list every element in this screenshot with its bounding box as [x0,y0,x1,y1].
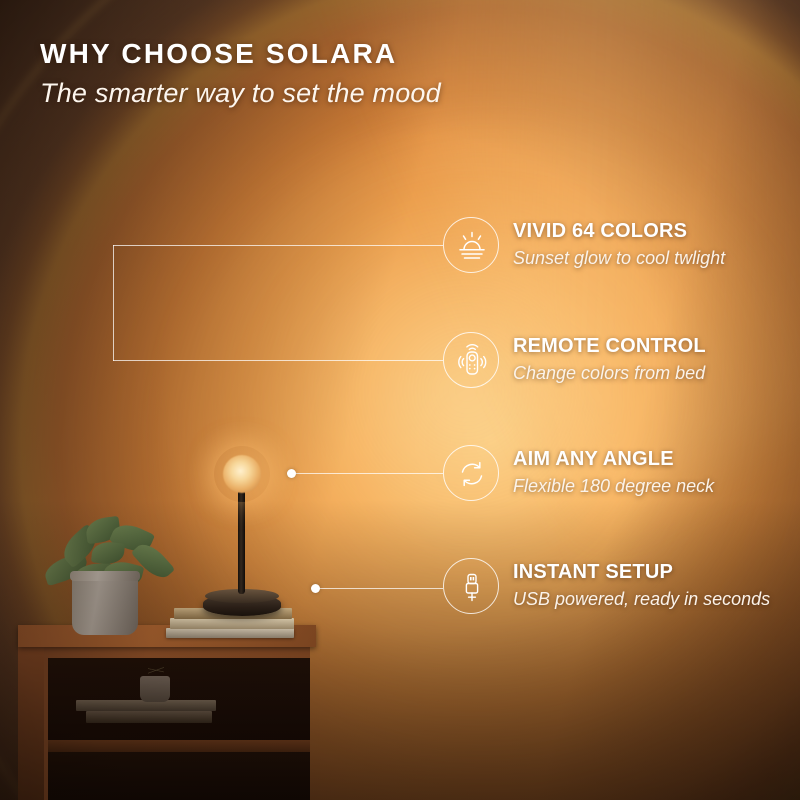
usb-plug-icon [443,558,499,614]
rotate-arrows-icon [443,445,499,501]
connector-line-feature-4 [315,588,443,589]
feature-item-instant-setup[interactable]: INSTANT SETUP USB powered, ready in seco… [443,558,793,620]
connector-line-feature-2 [113,360,443,361]
remote-control-icon [443,332,499,388]
feature-title: INSTANT SETUP [513,561,673,584]
connector-dot-feature-4 [311,584,320,593]
connector-line-feature-1 [113,245,443,246]
page-subtitle: The smarter way to set the mood [40,78,441,109]
sunset-icon [443,217,499,273]
connector-bracket-vertical [113,245,114,361]
feature-subtitle: Change colors from bed [513,363,705,384]
feature-item-aim-any-angle[interactable]: AIM ANY ANGLE Flexible 180 degree neck [443,445,793,507]
feature-title: VIVID 64 COLORS [513,220,687,243]
vignette-overlay [0,0,800,800]
feature-title: REMOTE CONTROL [513,335,706,358]
feature-subtitle: USB powered, ready in seconds [513,589,770,610]
feature-item-vivid-colors[interactable]: VIVID 64 COLORS Sunset glow to cool twli… [443,217,793,279]
page-title: WHY CHOOSE SOLARA [40,38,397,70]
feature-title: AIM ANY ANGLE [513,448,674,471]
feature-subtitle: Flexible 180 degree neck [513,476,714,497]
connector-line-feature-3 [291,473,443,474]
infographic-canvas: WHY CHOOSE SOLARA The smarter way to set… [0,0,800,800]
feature-item-remote-control[interactable]: REMOTE CONTROL Change colors from bed [443,332,793,394]
room-photo-background [0,0,800,800]
connector-dot-feature-3 [287,469,296,478]
feature-subtitle: Sunset glow to cool twlight [513,248,725,269]
